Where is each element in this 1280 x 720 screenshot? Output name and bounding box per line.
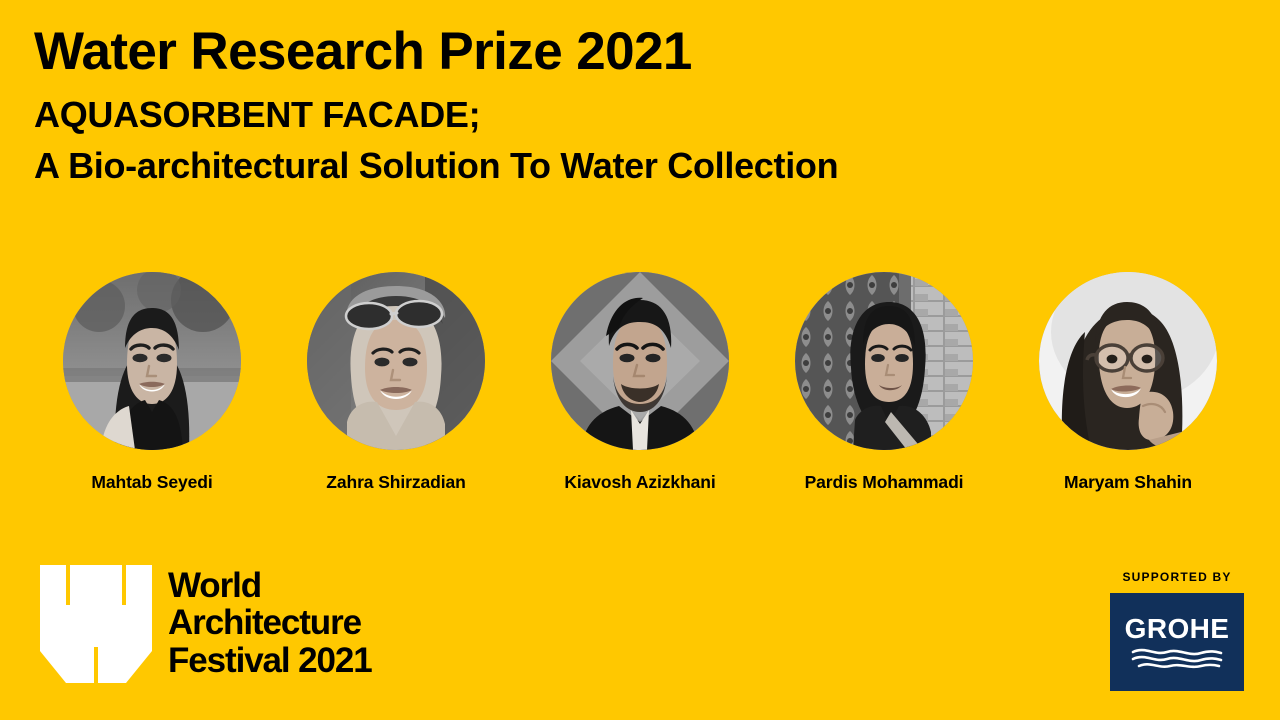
project-title-line-1: AQUASORBENT FACADE;	[34, 89, 1234, 140]
waf-shield-icon	[40, 565, 152, 683]
presentation-slide: Water Research Prize 2021 AQUASORBENT FA…	[0, 0, 1280, 720]
avatar	[795, 272, 973, 450]
team-member: Maryam Shahin	[1035, 272, 1221, 493]
avatar	[63, 272, 241, 450]
project-title-line-2: A Bio-architectural Solution To Water Co…	[34, 140, 1234, 191]
supported-by-label: SUPPORTED BY	[1122, 570, 1231, 584]
waf-wordmark: World Architecture Festival 2021	[168, 565, 372, 679]
team-member: Kiavosh Azizkhani	[547, 272, 733, 493]
supporter-block: SUPPORTED BY GROHE	[1110, 570, 1244, 691]
waf-wordmark-line-1: World	[168, 567, 372, 604]
avatar	[551, 272, 729, 450]
team-member-name: Zahra Shirzadian	[326, 472, 465, 493]
page-title: Water Research Prize 2021	[34, 22, 1234, 81]
team-member-name: Maryam Shahin	[1064, 472, 1192, 493]
waf-logo: World Architecture Festival 2021	[40, 565, 372, 683]
team-member: Mahtab Seyedi	[59, 272, 245, 493]
team-member: Zahra Shirzadian	[303, 272, 489, 493]
waf-wordmark-line-3: Festival 2021	[168, 642, 372, 679]
waf-wordmark-line-2: Architecture	[168, 604, 372, 641]
avatar	[1039, 272, 1217, 450]
avatar	[307, 272, 485, 450]
title-block: Water Research Prize 2021 AQUASORBENT FA…	[34, 22, 1234, 192]
team-member-name: Kiavosh Azizkhani	[564, 472, 715, 493]
team-member: Pardis Mohammadi	[791, 272, 977, 493]
team-members-row: Mahtab Seyedi	[0, 272, 1280, 493]
team-member-name: Pardis Mohammadi	[805, 472, 964, 493]
grohe-waves-icon	[1129, 646, 1225, 670]
team-member-name: Mahtab Seyedi	[91, 472, 212, 493]
grohe-logo: GROHE	[1110, 593, 1244, 691]
grohe-wordmark: GROHE	[1125, 615, 1230, 643]
